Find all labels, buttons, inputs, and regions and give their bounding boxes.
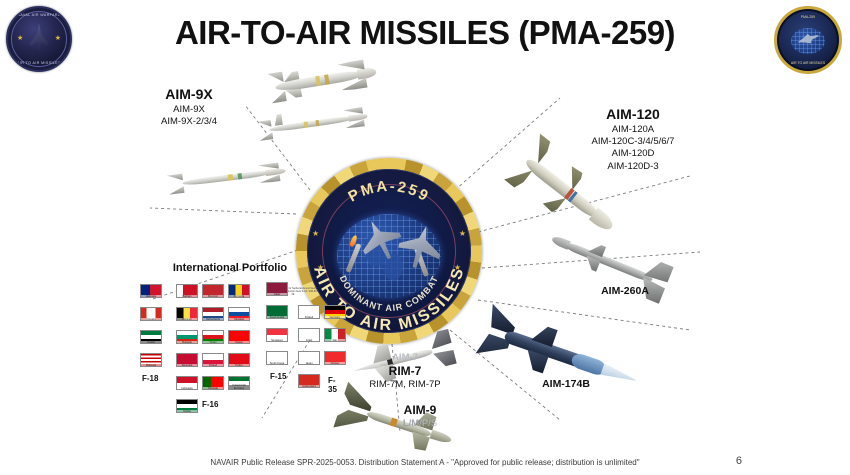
slide-canvas: AIR-TO-AIR MISSILES (PMA-259) NAVAL AIR … [0,0,850,475]
flag-caption: Canada [141,318,161,321]
rim-7-variant: RIM-7M, RIM-7P [340,379,470,391]
flag-israel: Israel [298,328,320,342]
flag-italy: Italy [324,328,346,342]
flag-germany: Germany [324,305,346,319]
flag-caption: Denmark [177,364,197,367]
flag-taiwan: Taiwan [228,330,250,344]
flag-caption: Indonesia [177,387,197,390]
flag-bahrain: Bahrain [176,284,198,298]
flag-netherlands: Netherlands [202,307,224,321]
flag-caption: Jordan [177,410,197,413]
emblem-arc-top-text: PMA-259 [345,178,432,206]
flag-caption: Australia [141,295,161,298]
flag-caption: South Korea [267,362,287,365]
flag-caption: Switzerland [299,385,319,388]
aim-120-variant: AIM-120D-3 [538,161,728,173]
aim-9-heading: AIM-9 [372,403,468,418]
aim-9x-callout: AIM-9X AIM-9X AIM-9X-2/3/4 [134,86,244,128]
flag-japan: Japan [298,351,320,365]
rim-7-ghost-heading: AIM-7 [340,352,470,364]
flag-caption: Qatar [267,293,287,296]
aim-9-variant-inactive: /P/S [419,418,437,429]
flag-malaysia: Malaysia [140,353,162,367]
flag-romania: Romania [228,284,250,298]
aim-120-callout: AIM-120 AIM-120A AIM-120C-3/4/5/6/7 AIM-… [538,106,728,173]
flag-caption: Netherlands [203,318,223,321]
flag-canada: Canada [140,307,162,321]
aim-120-variant: AIM-120A [538,124,728,136]
flag-group-label-f18: F-18 [142,374,158,383]
flag-jordan: Jordan [176,399,198,413]
flag-caption: Turkey [229,364,249,367]
flag-qatar: Qatar [266,282,288,296]
aim-120-variant: AIM-120D [538,148,728,160]
aim-260a-heading: AIM-260A [570,285,680,297]
flag-group-label-f35: F-35 [328,376,337,394]
flag-caption: Oman [203,341,223,344]
flag-portugal: Portugal [202,376,224,390]
flag-caption: Kuwait [141,341,161,344]
flag-caption: Bahrain [177,295,197,298]
aim-120-variant: AIM-120C-3/4/5/6/7 [538,136,728,148]
international-portfolio-title: International Portfolio [140,262,320,274]
flag-finland: Finland [298,305,320,319]
flag-caption: Taiwan [229,341,249,344]
flag-caption: Italy [325,339,345,342]
aim-9x-variant: AIM-9X [134,104,244,116]
flag-poland: Poland [202,353,224,367]
flag-turkey: Turkey [228,353,250,367]
flag-group-label-f16: F-16 [202,400,218,409]
flag-caption: Germany [325,316,345,319]
flag-australia: Australia [140,284,162,298]
flag-indonesia: Indonesia [176,376,198,390]
flag-caption: Poland [203,364,223,367]
flag-caption: Slovakia [229,318,249,321]
flag-caption: Norway [325,362,345,365]
flag-caption: Israel [299,339,319,342]
flag-norway: Norway [324,351,346,365]
aim-9-callout: AIM-9 L/M/P/S [372,403,468,430]
aim-260a-callout: AIM-260A [570,285,680,297]
aim-174b-callout: AIM-174B [506,378,626,390]
aim-9x-heading: AIM-9X [134,86,244,104]
flag-caption: Morocco [203,295,223,298]
flag-caption: Finland [299,316,319,319]
flag-united-arab-emirates: United Arab Emirates [228,376,250,390]
flag-bulgaria: Bulgaria [176,330,198,344]
flag-denmark: Denmark [176,353,198,367]
page-number: 6 [736,455,742,467]
flag-saudi-arabia: Saudi Arabia [266,305,288,319]
flag-caption: Portugal [203,387,223,390]
footer-release-statement: NAVAIR Public Release SPR-2025-0053. Dis… [0,458,850,467]
rim-7-heading: RIM-7 [340,364,470,379]
flag-caption: Saudi Arabia [267,316,287,319]
aim-9x-variant: AIM-9X-2/3/4 [134,116,244,128]
flag-caption: Romania [229,295,249,298]
flag-switzerland: Switzerland [298,374,320,388]
aim-9-variant-active: L/M [403,418,419,429]
flag-oman: Oman [202,330,224,344]
flag-caption: Belgium [177,318,197,321]
aim-120-heading: AIM-120 [538,106,728,124]
aim-9-variants: L/M/P/S [372,418,468,430]
flag-caption: United Arab Emirates [229,384,249,390]
flag-kuwait: Kuwait [140,330,162,344]
flag-caption: Malaysia [141,364,161,367]
flag-south-korea: South Korea [266,351,288,365]
flag-caption: Singapore [267,339,287,342]
flag-slovakia: Slovakia [228,307,250,321]
flag-grid: Australia Canada Kuwait Malaysia F-18 Ba… [140,284,336,404]
flag-singapore: Singapore [266,328,288,342]
flag-caption: Bulgaria [177,341,197,344]
flag-morocco: Morocco [202,284,224,298]
aim-174b-heading: AIM-174B [506,378,626,390]
flag-group-label-f15: F-15 [270,372,286,381]
flag-caption: Japan [299,362,319,365]
rim-7-callout: AIM-7 RIM-7 RIM-7M, RIM-7P [340,352,470,392]
flag-belgium: Belgium [176,307,198,321]
